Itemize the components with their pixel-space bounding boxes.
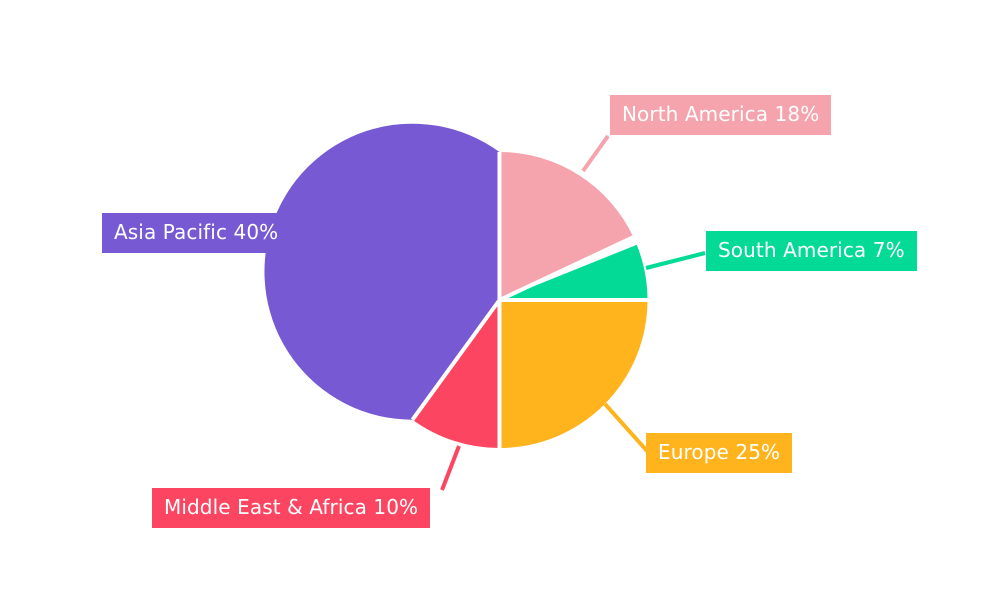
pie-label-north-america: North America 18% xyxy=(610,95,831,135)
pie-slices xyxy=(264,124,647,448)
leader-line-middle-east-africa xyxy=(442,446,459,490)
leader-line-south-america xyxy=(646,253,705,268)
leader-line-europe xyxy=(605,404,648,452)
pie-label-europe: Europe 25% xyxy=(646,433,792,473)
pie-chart-figure: North America 18% South America 7% Europ… xyxy=(0,0,1000,600)
pie-label-south-america: South America 7% xyxy=(706,231,917,271)
leader-line-north-america xyxy=(583,136,608,171)
pie-label-asia-pacific: Asia Pacific 40% xyxy=(102,213,290,253)
pie-label-middle-east-africa: Middle East & Africa 10% xyxy=(152,488,430,528)
pie-chart-svg xyxy=(0,0,1000,600)
